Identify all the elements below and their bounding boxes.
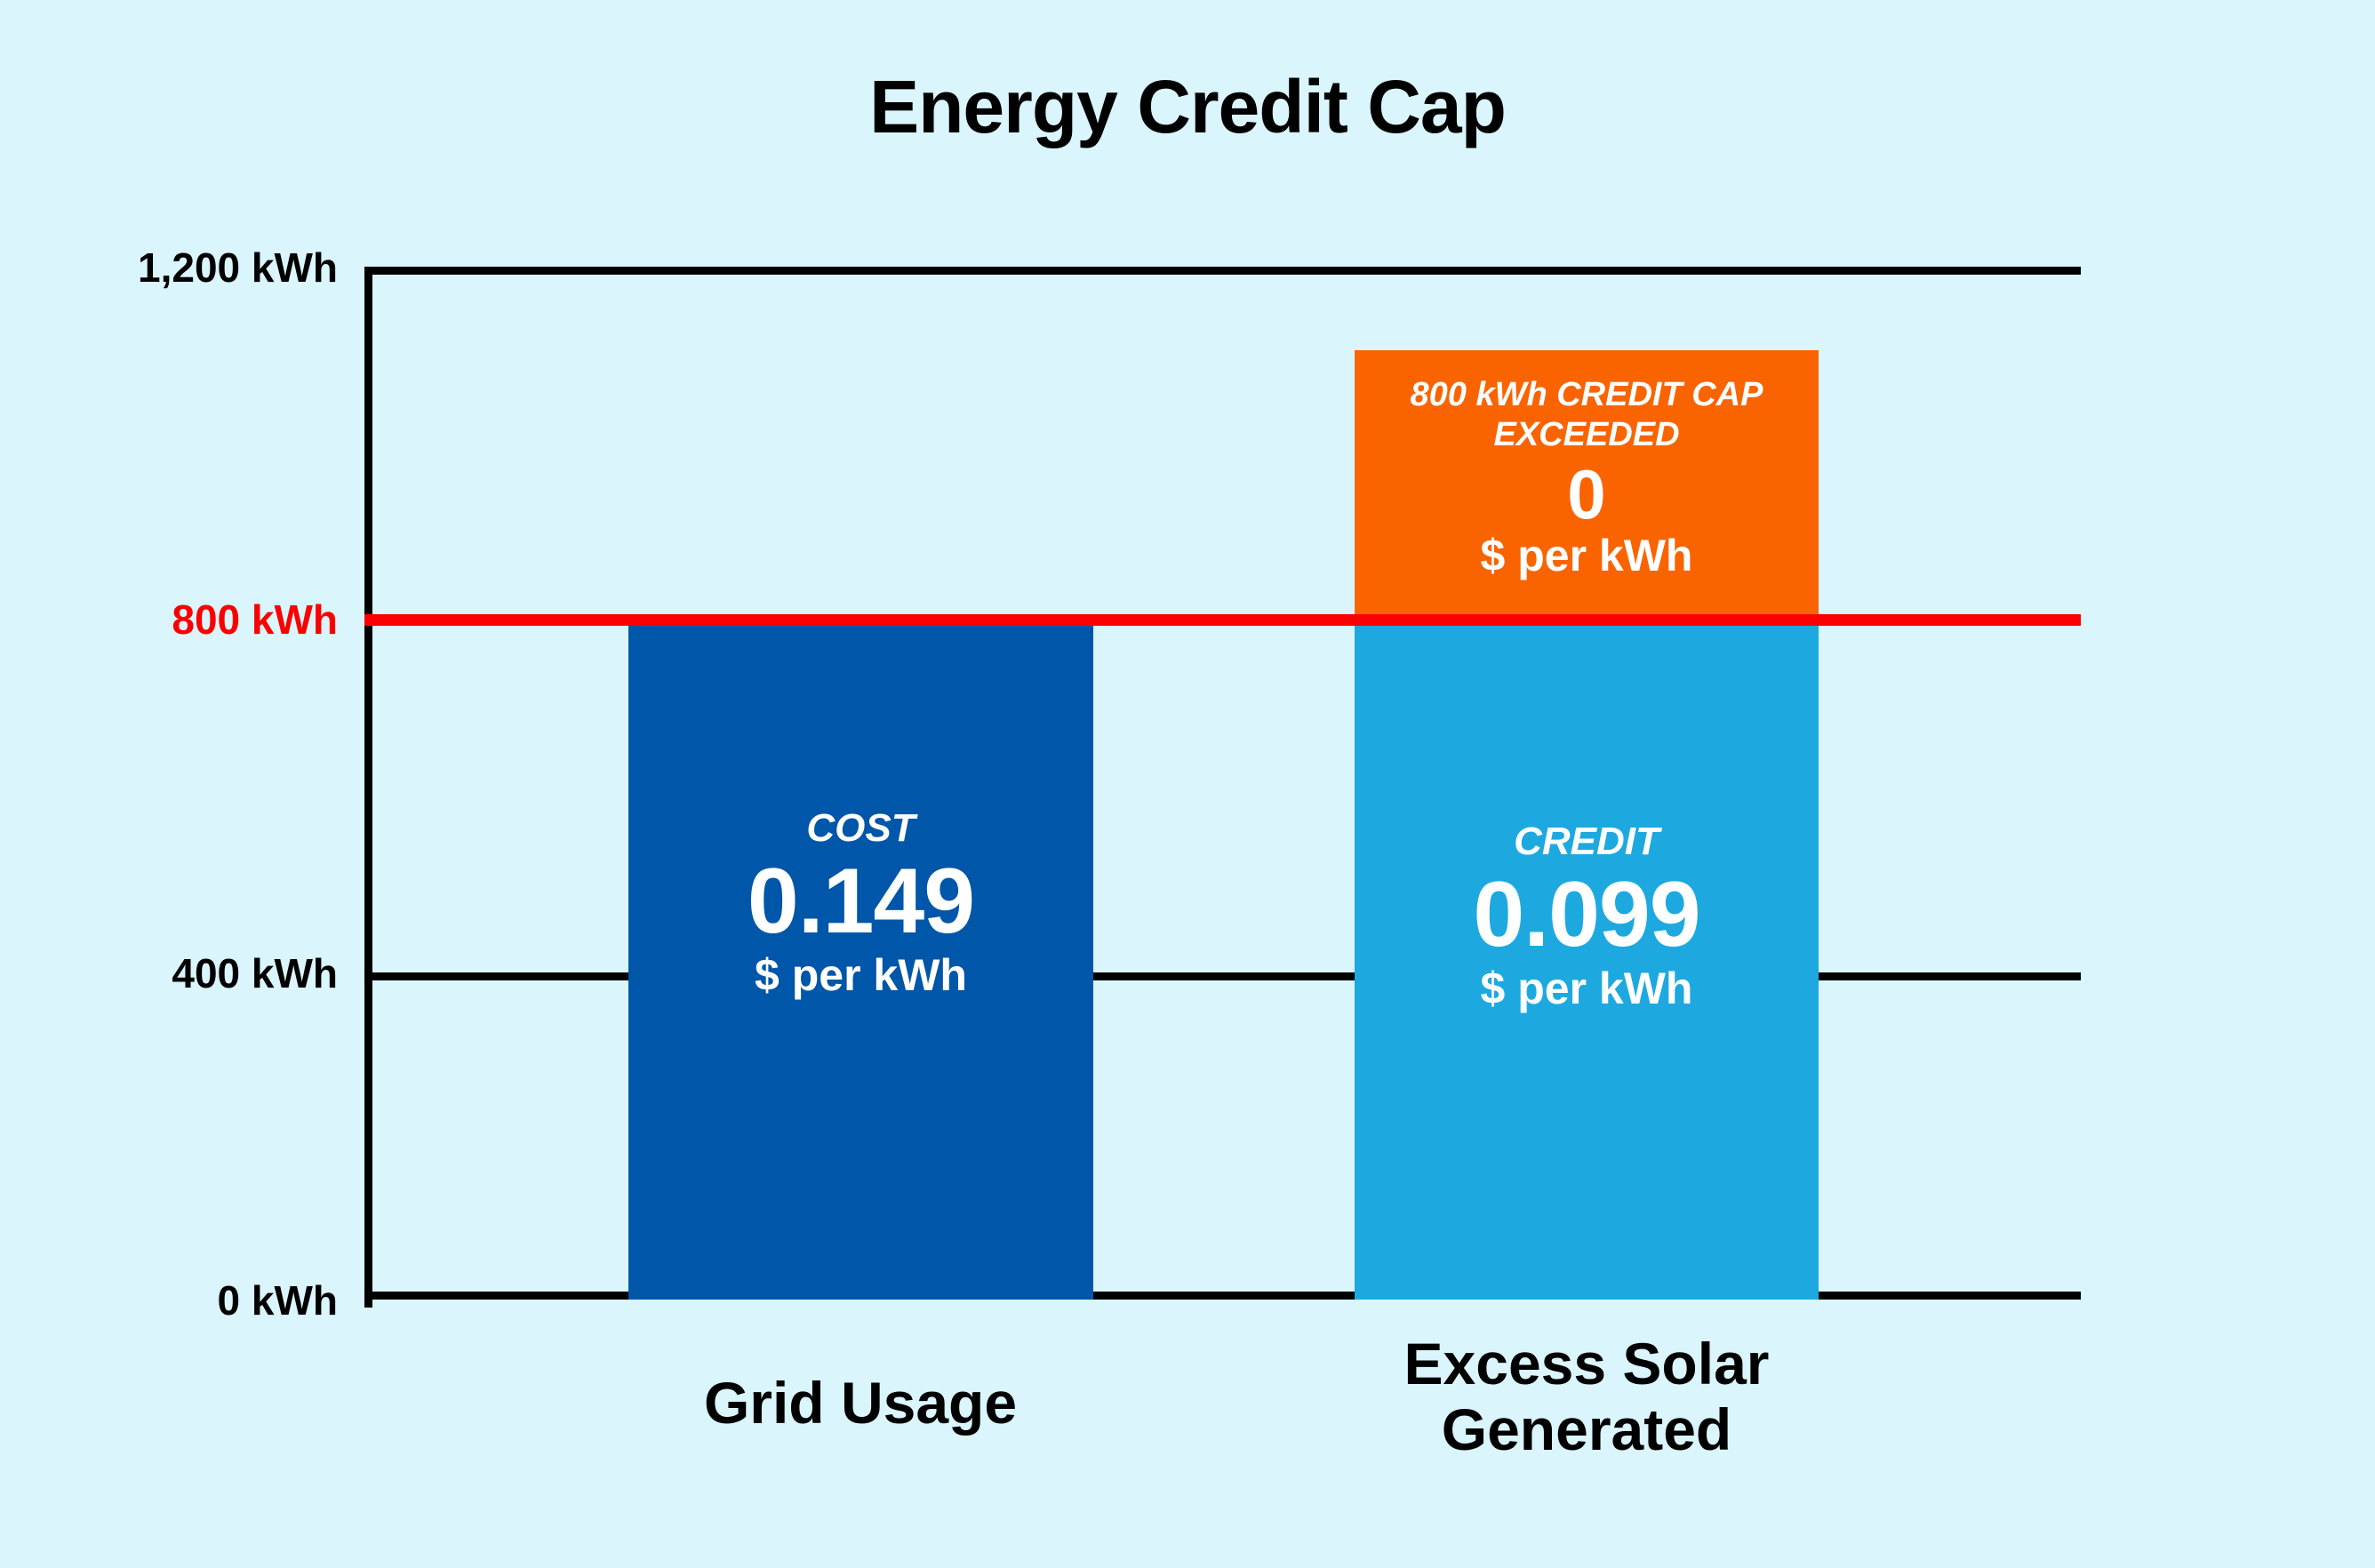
cap-exceeded-label-stack: 800 kWh CREDIT CAP EXCEEDED 0 $ per kWh [1355, 375, 1819, 580]
y-axis-label-400: 400 kWh [36, 953, 338, 994]
bar-cap-exceeded-segment[interactable]: 800 kWh CREDIT CAP EXCEEDED 0 $ per kWh [1355, 350, 1819, 622]
x-axis-label-excess-solar-line2: Generated [1302, 1397, 1871, 1463]
credit-cap-reference-line [364, 614, 2081, 626]
chart-title: Energy Credit Cap [0, 69, 2375, 144]
cap-exceeded-note: 800 kWh CREDIT CAP EXCEEDED [1355, 375, 1819, 455]
gridline-1200 [364, 267, 2081, 275]
cap-exceeded-rate-value: 0 [1355, 457, 1819, 532]
gridline-400 [364, 972, 2081, 980]
x-axis-label-grid-usage-line1: Grid Usage [576, 1371, 1145, 1436]
gridline-0-baseline [364, 1292, 2081, 1300]
bar-excess-solar-generated[interactable]: CREDIT 0.099 $ per kWh [1355, 620, 1819, 1300]
x-axis-label-excess-solar-line1: Excess Solar [1302, 1332, 1871, 1397]
x-axis-label-grid-usage: Grid Usage [576, 1371, 1145, 1436]
y-axis-label-0: 0 kWh [36, 1280, 338, 1321]
y-axis-label-800-cap: 800 kWh [36, 599, 338, 640]
cap-exceeded-rate-unit: $ per kWh [1355, 532, 1819, 580]
bar-grid-usage[interactable]: COST 0.149 $ per kWh [628, 620, 1093, 1300]
grid-usage-rate-unit: $ per kWh [628, 951, 1093, 1000]
y-axis-label-1200: 1,200 kWh [36, 247, 338, 288]
excess-solar-rate-unit: $ per kWh [1355, 964, 1819, 1013]
grid-usage-kicker: COST [628, 806, 1093, 852]
excess-solar-kicker: CREDIT [1355, 820, 1819, 865]
excess-solar-label-stack: CREDIT 0.099 $ per kWh [1355, 820, 1819, 1013]
grid-usage-rate-value: 0.149 [628, 852, 1093, 951]
plot-area [364, 267, 2081, 1300]
grid-usage-label-stack: COST 0.149 $ per kWh [628, 806, 1093, 1000]
excess-solar-rate-value: 0.099 [1355, 865, 1819, 964]
x-axis-label-excess-solar: Excess Solar Generated [1302, 1332, 1871, 1463]
